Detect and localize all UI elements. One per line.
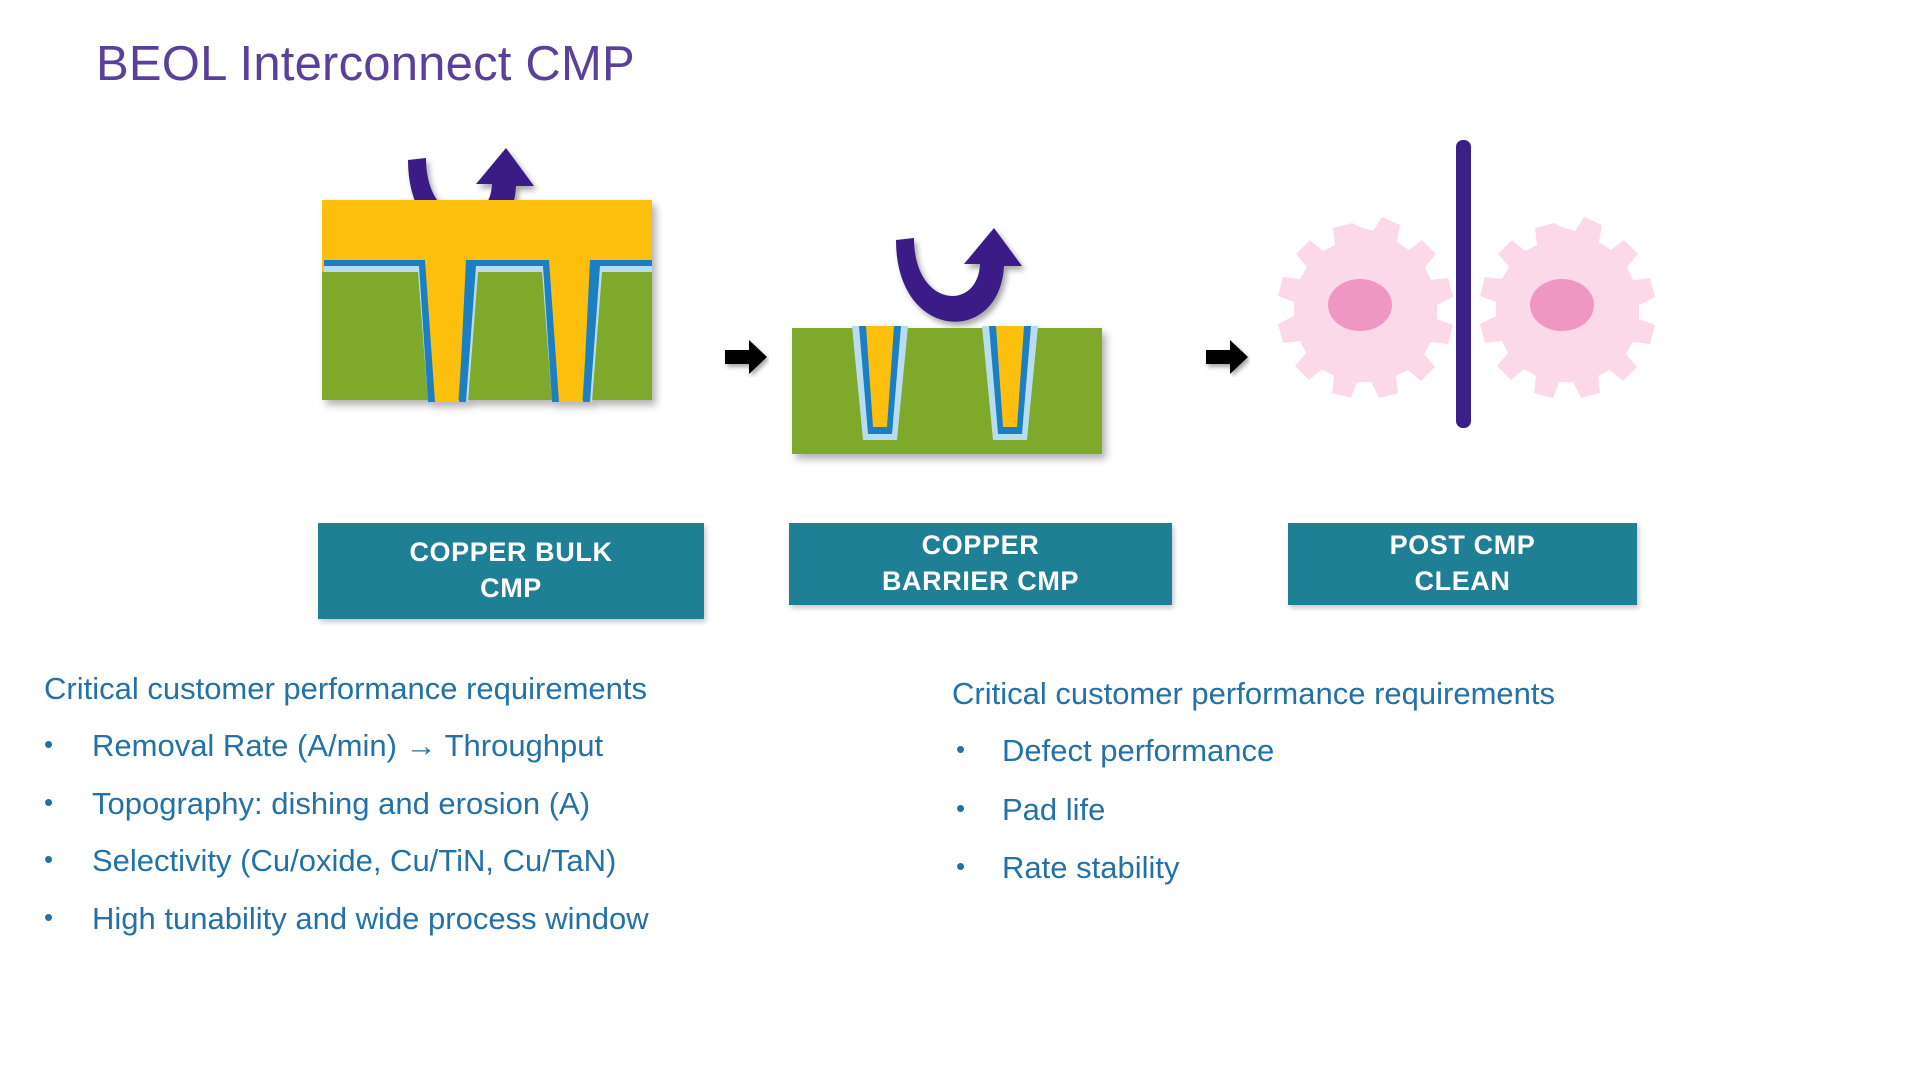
- list-item: • Removal Rate (A/min) → Throughput: [44, 727, 884, 766]
- flow-arrow-1: [723, 337, 769, 377]
- requirements-column-left: Critical customer performance requiremen…: [44, 670, 884, 958]
- list-item-label: High tunability and wide process window: [92, 900, 884, 939]
- caption-copper-barrier-cmp: COPPER BARRIER CMP: [789, 523, 1172, 605]
- list-item: • High tunability and wide process windo…: [44, 900, 884, 939]
- requirements-heading: Critical customer performance requiremen…: [952, 675, 1782, 714]
- bullet-glyph: •: [44, 727, 92, 762]
- gear-right-icon: [1480, 217, 1655, 398]
- list-item: • Topography: dishing and erosion (A): [44, 785, 884, 824]
- page-title: BEOL Interconnect CMP: [96, 36, 635, 94]
- bullet-glyph: •: [44, 785, 92, 820]
- list-item-label: Defect performance: [1002, 732, 1782, 771]
- bullet-glyph: •: [952, 791, 1002, 826]
- slide-canvas: BEOL Interconnect CMP: [0, 0, 1920, 1080]
- rotation-arrow-icon: [896, 228, 1022, 322]
- wafer-cross-section-with-overburden-copper-icon: [316, 140, 708, 480]
- caption-post-cmp-clean: POST CMP CLEAN: [1288, 523, 1637, 605]
- list-item: • Pad life: [952, 791, 1782, 830]
- caption-label: COPPER BARRIER CMP: [882, 528, 1079, 599]
- requirements-list: • Removal Rate (A/min) → Throughput • To…: [44, 727, 884, 939]
- caption-label: COPPER BULK CMP: [409, 535, 612, 606]
- bullet-glyph: •: [952, 732, 1002, 767]
- requirements-list: • Defect performance • Pad life • Rate s…: [952, 732, 1782, 888]
- list-item-label: Removal Rate (A/min) → Throughput: [92, 727, 884, 766]
- list-item-label: Rate stability: [1002, 849, 1782, 888]
- arrow-right-icon: [1204, 337, 1250, 377]
- diagram-copper-barrier-cmp: [786, 140, 1178, 480]
- requirements-heading: Critical customer performance requiremen…: [44, 670, 884, 709]
- list-item-label: Topography: dishing and erosion (A): [92, 785, 884, 824]
- diagram-copper-bulk-cmp: [316, 140, 708, 480]
- gears-and-brush-bar-icon: [1272, 130, 1672, 490]
- list-item: • Rate stability: [952, 849, 1782, 888]
- list-item: • Defect performance: [952, 732, 1782, 771]
- caption-label: POST CMP CLEAN: [1390, 528, 1536, 599]
- list-item-label: Selectivity (Cu/oxide, Cu/TiN, Cu/TaN): [92, 842, 884, 881]
- requirements-column-right: Critical customer performance requiremen…: [952, 675, 1782, 908]
- bullet-glyph: •: [44, 842, 92, 877]
- list-item-label: Pad life: [1002, 791, 1782, 830]
- caption-copper-bulk-cmp: COPPER BULK CMP: [318, 523, 704, 619]
- brush-bar-icon: [1456, 140, 1471, 428]
- flow-arrow-2: [1204, 337, 1250, 377]
- bullet-glyph: •: [952, 849, 1002, 884]
- gear-left-icon: [1278, 217, 1453, 398]
- diagram-post-cmp-clean: [1272, 130, 1672, 490]
- bullet-glyph: •: [44, 900, 92, 935]
- arrow-right-icon: [723, 337, 769, 377]
- wafer-cross-section-filled-trenches-icon: [786, 140, 1178, 480]
- list-item: • Selectivity (Cu/oxide, Cu/TiN, Cu/TaN): [44, 842, 884, 881]
